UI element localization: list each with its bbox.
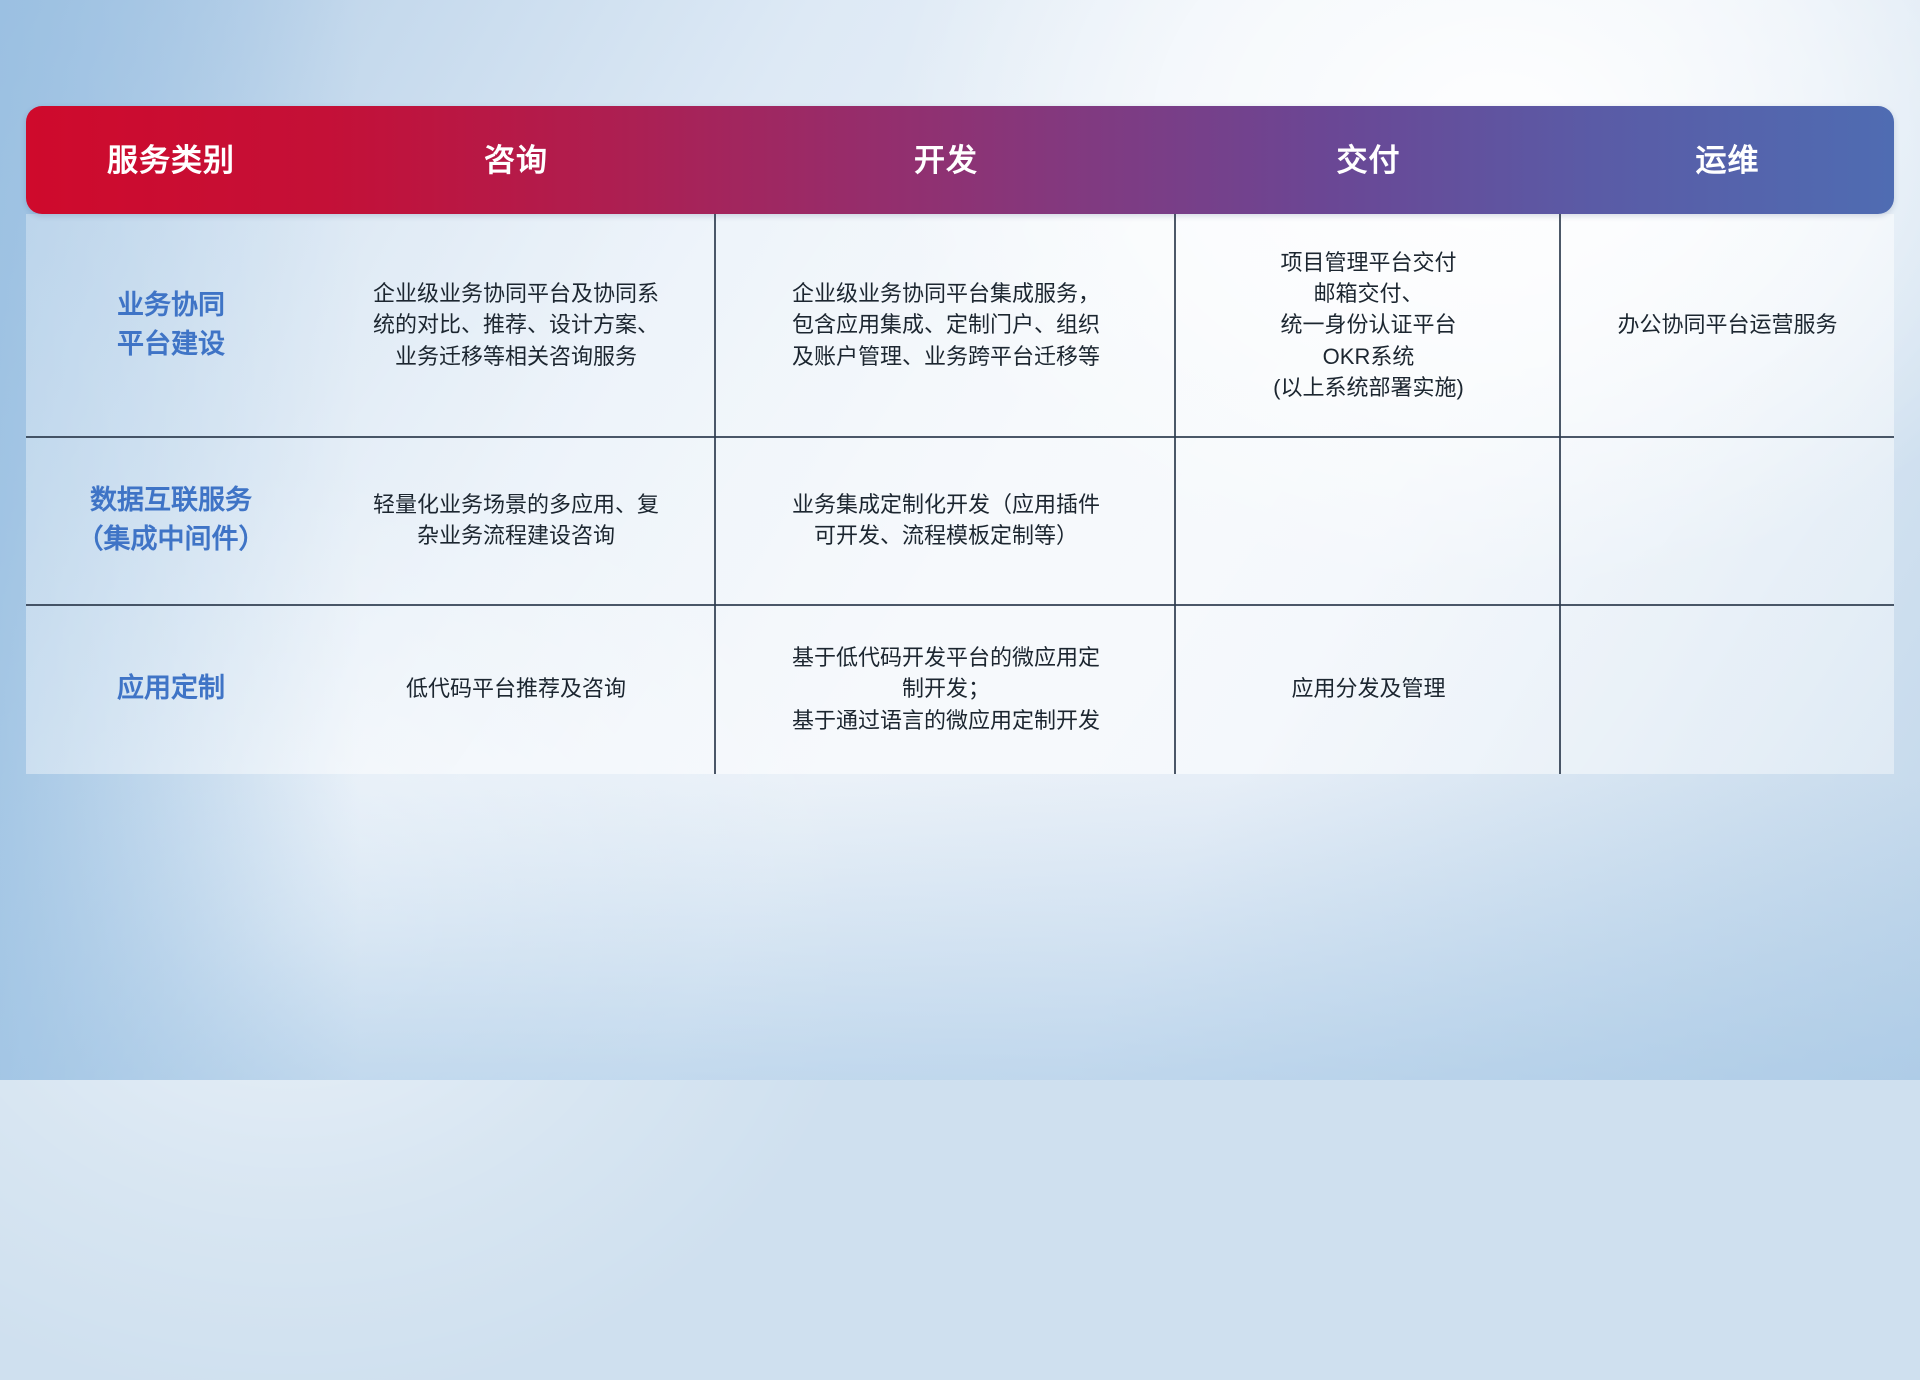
table-header-service-category: 服务类别	[26, 145, 316, 176]
cell-text: 业务集成定制化开发（应用插件 可开发、流程模板定制等）	[792, 489, 1100, 551]
background-tint-bottom	[0, 780, 1920, 1080]
table-header-operations: 运维	[1561, 145, 1894, 176]
table-header-delivery: 交付	[1176, 145, 1561, 176]
cell-text: 企业级业务协同平台及协同系 统的对比、推荐、设计方案、 业务迁移等相关咨询服务	[373, 278, 659, 372]
cell-consulting: 低代码平台推荐及咨询	[316, 604, 716, 774]
cell-text: 企业级业务协同平台集成服务， 包含应用集成、定制门户、组织 及账户管理、业务跨平…	[792, 278, 1100, 372]
cell-development: 企业级业务协同平台集成服务， 包含应用集成、定制门户、组织 及账户管理、业务跨平…	[716, 214, 1176, 436]
table-row: 应用定制 低代码平台推荐及咨询 基于低代码开发平台的微应用定 制开发； 基于通过…	[26, 604, 1894, 774]
table-row: 业务协同 平台建设 企业级业务协同平台及协同系 统的对比、推荐、设计方案、 业务…	[26, 214, 1894, 436]
cell-category: 业务协同 平台建设	[26, 214, 316, 436]
cell-text: 办公协同平台运营服务	[1617, 309, 1837, 340]
cell-delivery	[1176, 436, 1561, 604]
cell-category: 数据互联服务 （集成中间件）	[26, 436, 316, 604]
service-matrix-table: 服务类别 咨询 开发 交付 运维 业务协同 平台建设 企业级业务协同平台及协同系…	[26, 106, 1894, 774]
cell-category: 应用定制	[26, 604, 316, 774]
category-label: 业务协同 平台建设	[117, 286, 225, 364]
category-label: 数据互联服务 （集成中间件）	[77, 481, 266, 559]
table-header-consulting: 咨询	[316, 145, 716, 176]
table-header-row: 服务类别 咨询 开发 交付 运维	[26, 106, 1894, 214]
cell-consulting: 轻量化业务场景的多应用、复 杂业务流程建设咨询	[316, 436, 716, 604]
table-row: 数据互联服务 （集成中间件） 轻量化业务场景的多应用、复 杂业务流程建设咨询 业…	[26, 436, 1894, 604]
cell-development: 业务集成定制化开发（应用插件 可开发、流程模板定制等）	[716, 436, 1176, 604]
cell-text: 基于低代码开发平台的微应用定 制开发； 基于通过语言的微应用定制开发	[792, 642, 1100, 736]
cell-operations: 办公协同平台运营服务	[1561, 214, 1894, 436]
cell-text: 项目管理平台交付 邮箱交付、 统一身份认证平台 OKR系统 (以上系统部署实施)	[1273, 247, 1464, 403]
category-label: 应用定制	[117, 669, 225, 708]
cell-operations	[1561, 436, 1894, 604]
cell-delivery: 应用分发及管理	[1176, 604, 1561, 774]
cell-delivery: 项目管理平台交付 邮箱交付、 统一身份认证平台 OKR系统 (以上系统部署实施)	[1176, 214, 1561, 436]
cell-text: 低代码平台推荐及咨询	[406, 673, 626, 704]
cell-text: 轻量化业务场景的多应用、复 杂业务流程建设咨询	[373, 489, 659, 551]
cell-consulting: 企业级业务协同平台及协同系 统的对比、推荐、设计方案、 业务迁移等相关咨询服务	[316, 214, 716, 436]
cell-operations	[1561, 604, 1894, 774]
cell-development: 基于低代码开发平台的微应用定 制开发； 基于通过语言的微应用定制开发	[716, 604, 1176, 774]
cell-text: 应用分发及管理	[1291, 673, 1445, 704]
table-header-development: 开发	[716, 145, 1176, 176]
